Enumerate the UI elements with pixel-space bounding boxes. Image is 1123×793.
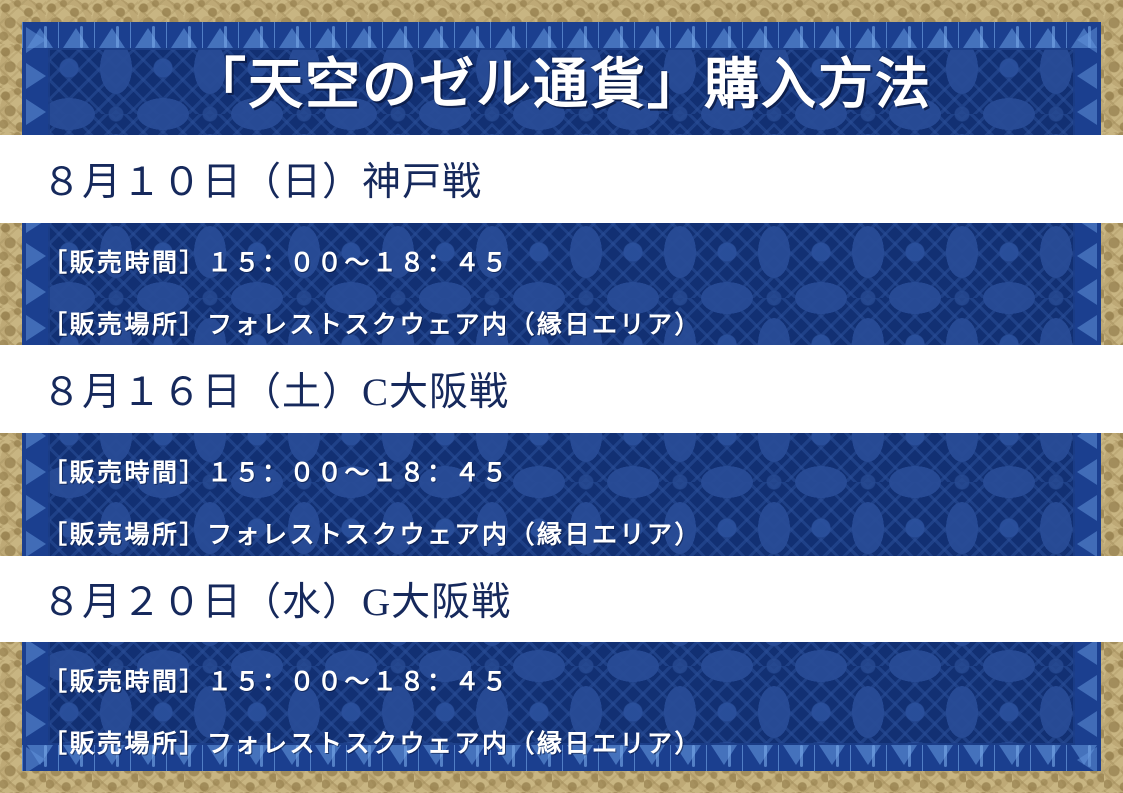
sale-place-line: ［販売場所］フォレストスクウェア内（縁日エリア） [0,279,1123,341]
date-band: ８月２０日（水）G大阪戦 [0,556,1123,642]
title-area: 「天空のゼル通貨」購入方法 [0,22,1123,135]
sale-time-line: ［販売時間］１５：００〜１８：４５ [0,433,1123,489]
page-title: 「天空のゼル通貨」購入方法 [191,39,932,119]
poster-root: 「天空のゼル通貨」購入方法 ８月１０日（日）神戸戦 ［販売時間］１５：００〜１８… [0,0,1123,793]
sale-time-line: ［販売時間］１５：００〜１８：４５ [0,642,1123,698]
date-heading: ８月２０日（水）G大阪戦 [0,571,511,627]
info-block: ［販売時間］１５：００〜１８：４５ ［販売場所］フォレストスクウェア内（縁日エリ… [0,433,1123,556]
content-layer: 「天空のゼル通貨」購入方法 ８月１０日（日）神戸戦 ［販売時間］１５：００〜１８… [0,0,1123,793]
sale-time-line: ［販売時間］１５：００〜１８：４５ [0,223,1123,279]
date-heading: ８月１０日（日）神戸戦 [0,151,482,207]
info-block: ［販売時間］１５：００〜１８：４５ ［販売場所］フォレストスクウェア内（縁日エリ… [0,642,1123,767]
date-band: ８月１６日（土）C大阪戦 [0,345,1123,433]
date-band: ８月１０日（日）神戸戦 [0,135,1123,223]
info-block: ［販売時間］１５：００〜１８：４５ ［販売場所］フォレストスクウェア内（縁日エリ… [0,223,1123,345]
date-heading: ８月１６日（土）C大阪戦 [0,361,509,417]
sale-place-line: ［販売場所］フォレストスクウェア内（縁日エリア） [0,698,1123,760]
sale-place-line: ［販売場所］フォレストスクウェア内（縁日エリア） [0,489,1123,551]
